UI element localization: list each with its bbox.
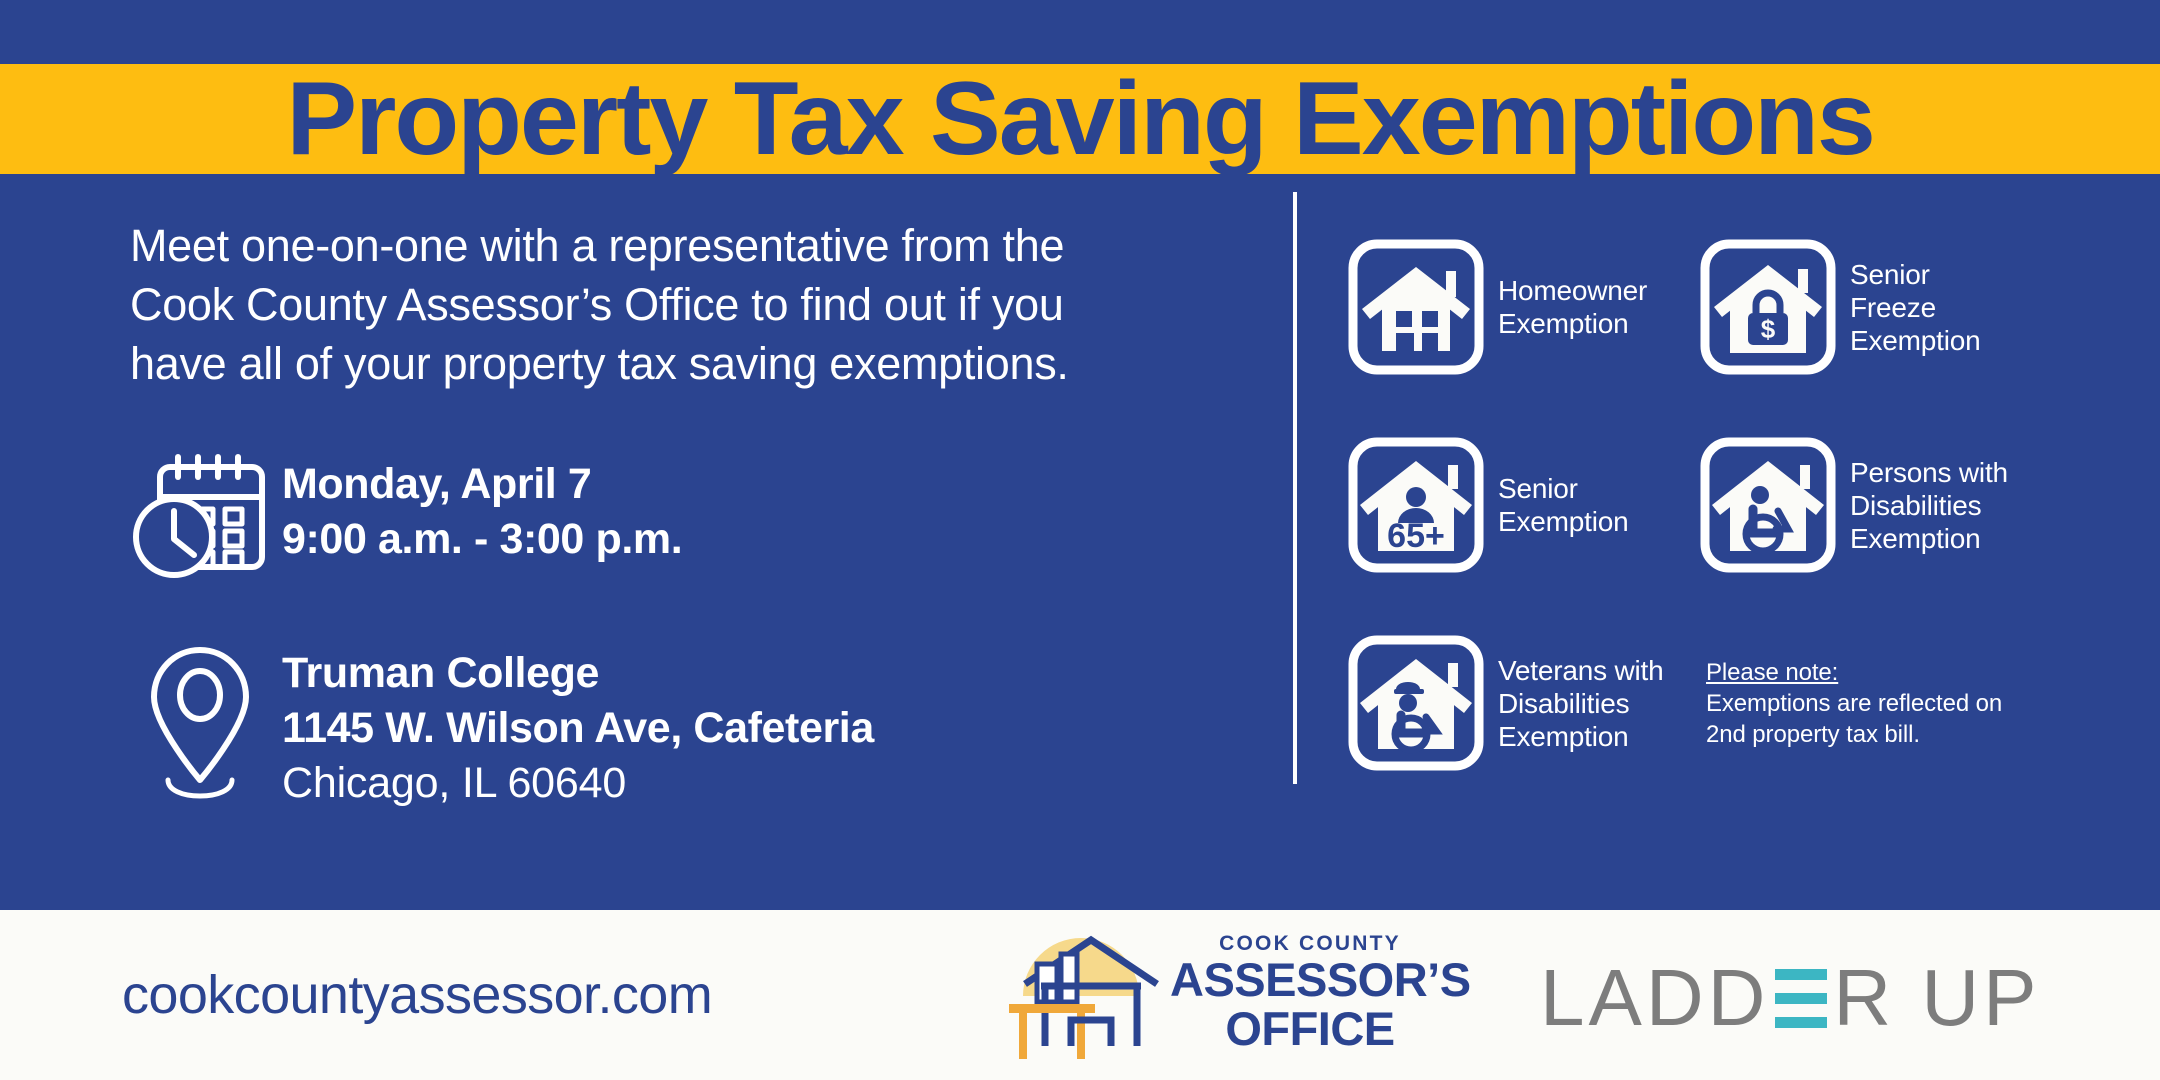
location-row: Truman College 1145 W. Wilson Ave, Cafet… <box>130 640 1230 811</box>
assessor-logo-text: COOK COUNTY ASSESSOR’S OFFICE <box>1170 932 1450 1054</box>
intro-paragraph: Meet one-on-one with a representative fr… <box>130 216 1230 393</box>
venue-city: Chicago, IL 60640 <box>282 756 874 811</box>
footer-bar: cookcountyassessor.com COOK COUNTY ASSES… <box>0 910 2160 1080</box>
intro-line-1: Meet one-on-one with a representative fr… <box>130 216 1230 275</box>
note-heading: Please note: <box>1706 657 2002 688</box>
exemption-item-senior-freeze: $ Senior Freeze Exemption <box>1698 232 2050 382</box>
please-note-block: Please note: Exemptions are reflected on… <box>1698 628 2050 778</box>
note-line-1: Exemptions are reflected on <box>1706 688 2002 719</box>
location-text: Truman College 1145 W. Wilson Ave, Cafet… <box>282 640 874 811</box>
house-homeowner-icon <box>1346 237 1486 377</box>
website-url[interactable]: cookcountyassessor.com <box>122 964 712 1026</box>
date-time-text: Monday, April 7 9:00 a.m. - 3:00 p.m. <box>282 451 682 567</box>
note-line-2: 2nd property tax bill. <box>1706 719 2002 750</box>
exemptions-grid: Homeowner Exemption $ <box>1346 232 2130 778</box>
house-wheelchair-icon <box>1698 435 1838 575</box>
label-line-2: Disabilities <box>1850 489 2008 522</box>
label-line-1: Homeowner <box>1498 274 1647 307</box>
svg-text:65+: 65+ <box>1387 517 1445 555</box>
intro-line-3: have all of your property tax saving exe… <box>130 334 1230 393</box>
ladder-up-logo: LADD R UP <box>1540 952 2041 1044</box>
exemption-item-disabilities: Persons with Disabilities Exemption <box>1698 430 2050 580</box>
intro-line-2: Cook County Assessor’s Office to find ou… <box>130 275 1230 334</box>
label-line-3: Exemption <box>1850 324 1981 357</box>
venue-address: 1145 W. Wilson Ave, Cafeteria <box>282 701 874 756</box>
label-line-2: Disabilities <box>1498 687 1664 720</box>
label-line-1: Persons with <box>1850 456 2008 489</box>
label-line-3: Exemption <box>1850 522 2008 555</box>
label-line-1: Veterans with <box>1498 654 1664 687</box>
event-date: Monday, April 7 <box>282 457 682 512</box>
house-veteran-icon <box>1346 633 1486 773</box>
page-title: Property Tax Saving Exemptions <box>286 67 1873 171</box>
venue-name: Truman College <box>282 646 874 701</box>
assessor-office-logo: COOK COUNTY ASSESSOR’S OFFICE <box>985 918 1455 1080</box>
right-column: Homeowner Exemption $ <box>1290 198 2160 910</box>
house-lock-dollar-icon: $ <box>1698 237 1838 377</box>
body-area: Meet one-on-one with a representative fr… <box>0 174 2160 910</box>
note-text: Please note: Exemptions are reflected on… <box>1698 657 2002 750</box>
label-line-1: Senior <box>1850 258 1981 291</box>
ladder-up-part-2: R UP <box>1833 952 2040 1044</box>
event-time: 9:00 a.m. - 3:00 p.m. <box>282 512 682 567</box>
ladder-up-accent-e-icon <box>1775 965 1827 1031</box>
top-navy-strip <box>0 0 2160 64</box>
map-pin-icon <box>130 640 282 805</box>
flyer-root: Property Tax Saving Exemptions Meet one-… <box>0 0 2160 1080</box>
assessor-house-icon <box>985 924 1185 1074</box>
exemption-label-senior-freeze: Senior Freeze Exemption <box>1838 258 1981 357</box>
exemption-label-senior: Senior Exemption <box>1486 472 1629 538</box>
label-line-2: Exemption <box>1498 505 1629 538</box>
calendar-clock-icon <box>130 451 282 584</box>
exemption-item-senior: 65+ Senior Exemption <box>1346 430 1698 580</box>
label-line-3: Exemption <box>1498 720 1664 753</box>
assessor-word-2: OFFICE <box>1170 1005 1450 1054</box>
label-line-1: Senior <box>1498 472 1629 505</box>
label-line-2: Exemption <box>1498 307 1647 340</box>
ladder-up-part-1: LADD <box>1540 952 1769 1044</box>
svg-text:$: $ <box>1761 314 1776 344</box>
left-column: Meet one-on-one with a representative fr… <box>0 198 1290 910</box>
exemption-item-homeowner: Homeowner Exemption <box>1346 232 1698 382</box>
exemption-label-disabilities: Persons with Disabilities Exemption <box>1838 456 2008 555</box>
exemption-item-veterans: Veterans with Disabilities Exemption <box>1346 628 1698 778</box>
label-line-2: Freeze <box>1850 291 1981 324</box>
exemption-label-veterans: Veterans with Disabilities Exemption <box>1486 654 1664 753</box>
exemption-label-homeowner: Homeowner Exemption <box>1486 274 1647 340</box>
assessor-word-1: ASSESSOR’S <box>1170 956 1450 1005</box>
title-band: Property Tax Saving Exemptions <box>0 64 2160 174</box>
house-65plus-icon: 65+ <box>1346 435 1486 575</box>
date-time-row: Monday, April 7 9:00 a.m. - 3:00 p.m. <box>130 451 1230 584</box>
